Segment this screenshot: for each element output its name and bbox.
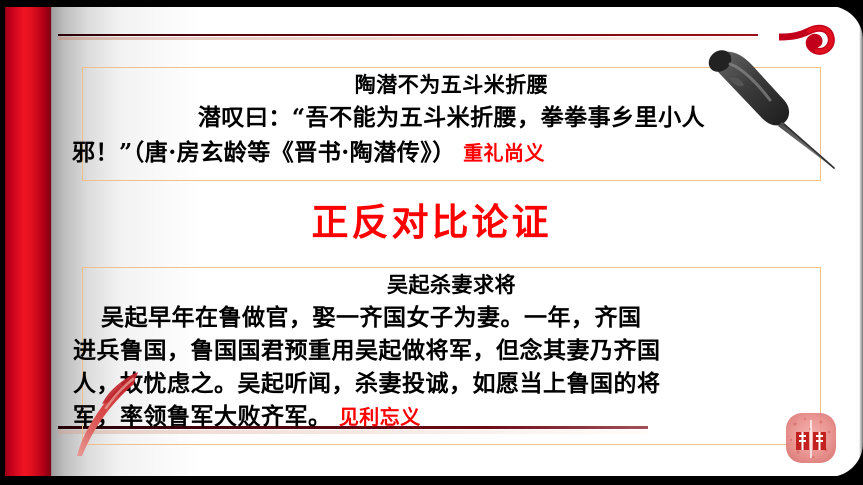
top-box-keyword: 重礼尚义 — [463, 141, 545, 165]
top-box-line-2: 潜叹曰：“吾不能为五斗米折腰，拳拳事乡里小人 — [83, 102, 820, 134]
bottom-box-line-1: 吴起早年在鲁做官，娶一齐国女子为妻。一年，齐国 — [101, 302, 642, 334]
bottom-box-keyword: 见利忘义 — [339, 405, 421, 429]
quote-box-wuqi: 吴起杀妻求将 吴起早年在鲁做官，娶一齐国女子为妻。一年，齐国 进兵鲁国，鲁国国君… — [82, 267, 821, 445]
bottom-box-title: 吴起杀妻求将 — [83, 271, 820, 299]
red-spine-decoration — [4, 0, 51, 485]
quote-box-taoqian: 陶潜不为五斗米折腰 潜叹曰：“吾不能为五斗米折腰，拳拳事乡里小人 邪！”（唐·房… — [82, 67, 821, 181]
bottom-box-line-3: 人，故忧虑之。吴起听闻，杀妻投诚，如愿当上鲁国的将 — [73, 368, 661, 400]
red-seal-stamp-icon — [783, 410, 839, 466]
frame-top-bar — [0, 0, 863, 7]
header-divider-glow — [58, 37, 758, 40]
slide-canvas: 陶潜不为五斗米折腰 潜叹曰：“吾不能为五斗米折腰，拳拳事乡里小人 邪！”（唐·房… — [0, 0, 863, 485]
frame-bottom-bar — [0, 476, 863, 485]
bottom-box-line-4: 军，率领鲁军大败齐军。 — [73, 403, 332, 430]
top-box-line-3: 邪！”（唐·房玄龄等《晋书·陶潜传》） — [72, 139, 456, 166]
spine-edge-shadow — [50, 0, 52, 485]
bottom-box-line-2: 进兵鲁国，鲁国国君预重用吴起做将军，但念其妻乃齐国 — [73, 335, 661, 367]
top-box-line-3-wrap: 邪！”（唐·房玄龄等《晋书·陶潜传》） 重礼尚义 — [72, 137, 545, 169]
bottom-box-line-4-wrap: 军，率领鲁军大败齐军。 见利忘义 — [73, 401, 421, 433]
header-divider-rule — [58, 34, 758, 36]
top-box-title: 陶潜不为五斗米折腰 — [83, 71, 820, 99]
page-title: 正反对比论证 — [0, 199, 863, 245]
red-swirl-icon — [779, 14, 835, 60]
frame-right-shadow — [859, 0, 863, 485]
frame-left-bar — [0, 0, 5, 485]
